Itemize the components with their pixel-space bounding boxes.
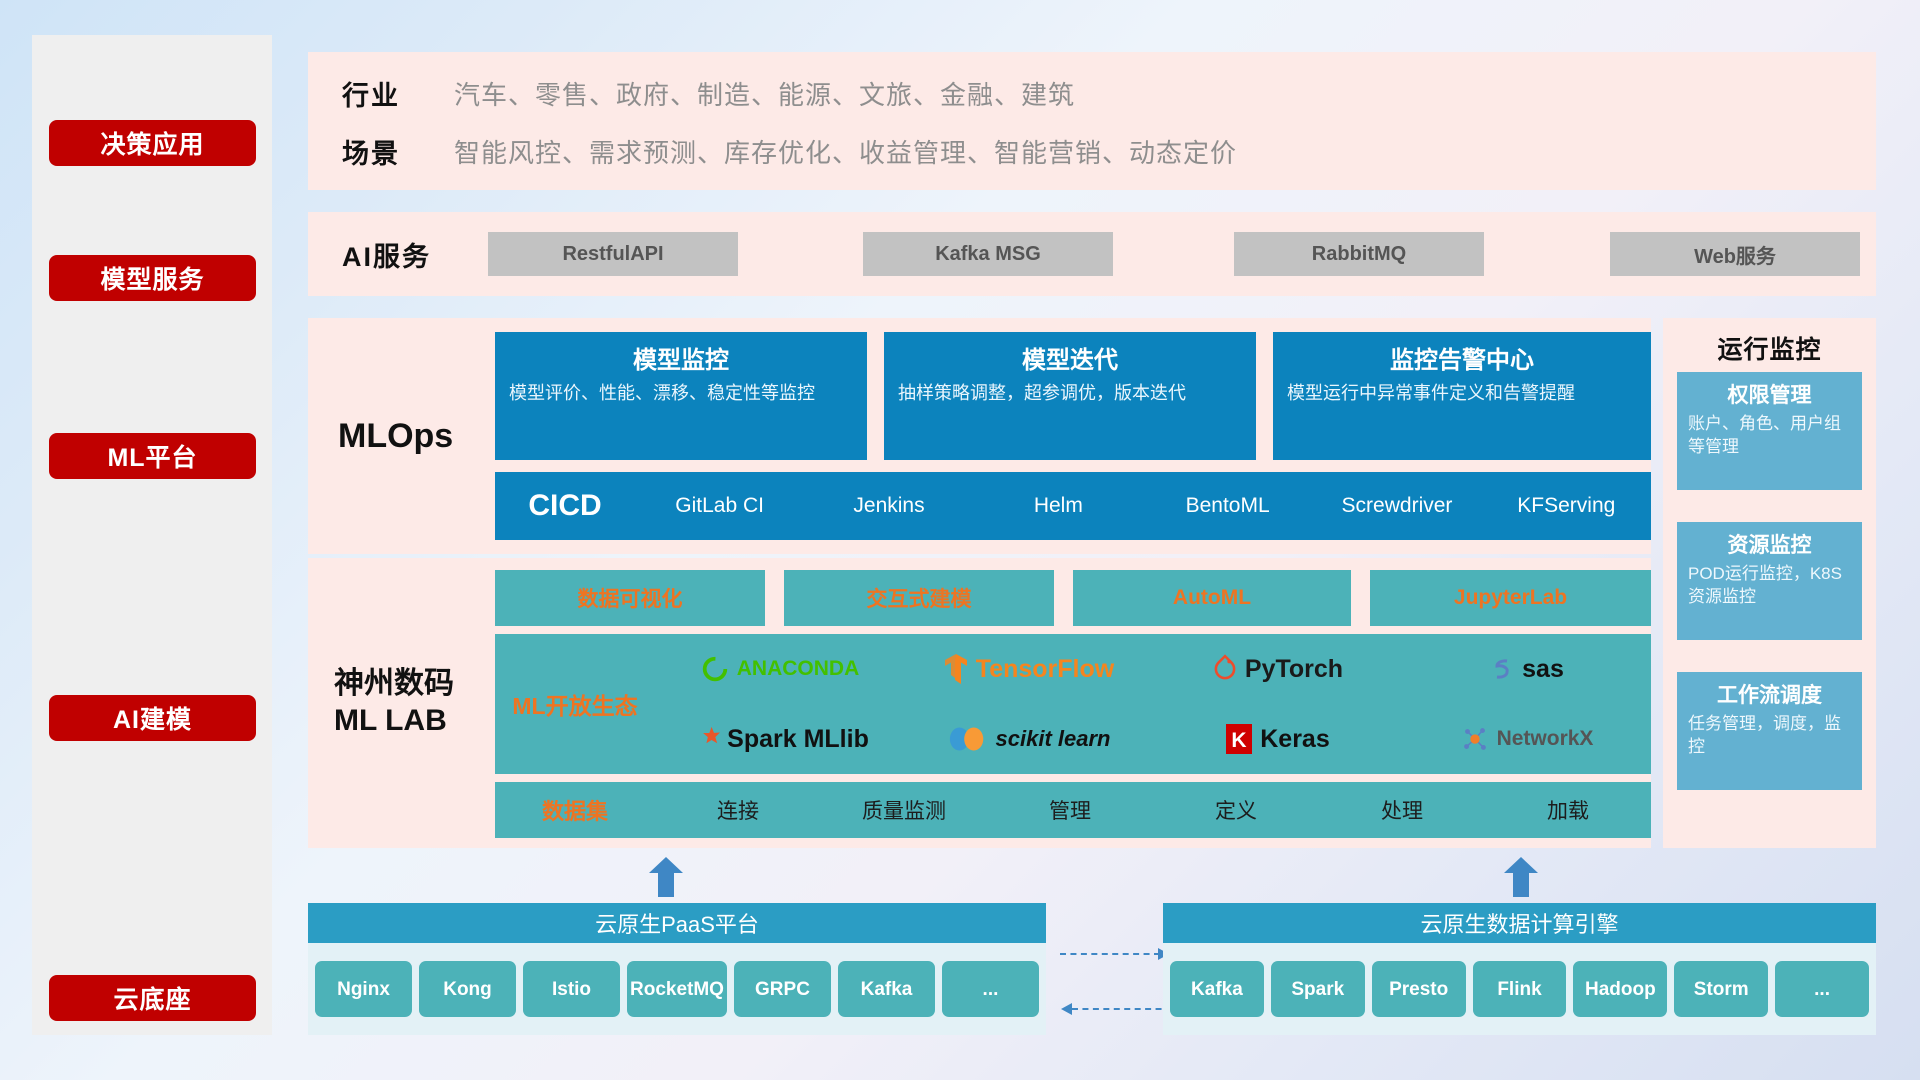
rail-item-ml-platform[interactable]: ML平台 (49, 433, 256, 479)
engine-chip-flink[interactable]: Flink (1473, 961, 1567, 1017)
keras-logo: K Keras (1225, 723, 1330, 755)
ai-chip-rabbitmq[interactable]: RabbitMQ (1234, 232, 1484, 276)
dataset-bar: 数据集 连接 质量监测 管理 定义 处理 加载 (495, 782, 1651, 838)
cicd-title: CICD (495, 489, 635, 523)
cicd-item-gitlab-ci[interactable]: GitLab CI (635, 493, 804, 519)
cicd-item-kfserving[interactable]: KFServing (1482, 493, 1651, 519)
card-title: 模型监控 (509, 340, 853, 375)
paas-chip-row: Nginx Kong Istio RocketMQ GRPC Kafka ... (308, 943, 1046, 1035)
mlops-card-model-iteration[interactable]: 模型迭代 抽样策略调整，超参调优，版本迭代 (884, 332, 1256, 460)
monitor-card-resource[interactable]: 资源监控 POD运行监控，K8S资源监控 (1677, 522, 1862, 640)
cicd-item-helm[interactable]: Helm (974, 493, 1143, 519)
engine-chip-hadoop[interactable]: Hadoop (1573, 961, 1667, 1017)
anaconda-label: ANACONDA (737, 657, 860, 681)
ml-lab-band: 神州数码 ML LAB 数据可视化 交互式建模 AutoML JupyterLa… (308, 558, 1651, 848)
paas-chip-kong[interactable]: Kong (419, 961, 516, 1017)
dash-arrow-left (1061, 1003, 1072, 1015)
pytorch-logo: PyTorch (1212, 654, 1343, 684)
monitor-card-workflow[interactable]: 工作流调度 任务管理，调度，监控 (1677, 672, 1862, 790)
engine-chip-more[interactable]: ... (1775, 961, 1869, 1017)
arrow-up-paas (649, 857, 683, 897)
paas-chip-nginx[interactable]: Nginx (315, 961, 412, 1017)
rail-item-cloud-base[interactable]: 云底座 (49, 975, 256, 1021)
scenario-label: 场景 (342, 132, 454, 171)
sas-icon (1489, 655, 1515, 683)
keras-label: Keras (1260, 725, 1330, 754)
tensorflow-logo: TensorFlow (943, 653, 1114, 685)
rail-item-ai-modeling[interactable]: AI建模 (49, 695, 256, 741)
dataset-item-manage[interactable]: 管理 (987, 795, 1153, 825)
anaconda-logo: ANACONDA (700, 654, 860, 684)
cicd-item-screwdriver[interactable]: Screwdriver (1312, 493, 1481, 519)
card-desc: POD运行监控，K8S资源监控 (1688, 563, 1851, 609)
industry-label: 行业 (342, 74, 454, 113)
tensorflow-icon (943, 653, 969, 685)
card-title: 监控告警中心 (1287, 340, 1637, 375)
ai-service-band: AI服务 RestfulAPI Kafka MSG RabbitMQ Web服务 (308, 212, 1876, 296)
scikit-learn-label: scikit learn (996, 726, 1111, 752)
sas-logo: sas (1489, 655, 1564, 684)
ml-ecosystem-label: ML开放生态 (495, 687, 655, 721)
dash-line-left (1072, 1008, 1172, 1010)
ml-lab-label-line1: 神州数码 (334, 666, 454, 703)
scenario-row: 场景 智能风控、需求预测、库存优化、收益管理、智能营销、动态定价 (342, 132, 1237, 171)
cicd-bar: CICD GitLab CI Jenkins Helm BentoML Scre… (495, 472, 1651, 540)
ml-ecosystem-logo-grid: ANACONDA TensorFlow PyTorch (655, 634, 1651, 774)
card-desc: 账户、角色、用户组等管理 (1688, 413, 1851, 459)
card-desc: 模型评价、性能、漂移、稳定性等监控 (509, 381, 853, 405)
engine-chip-spark[interactable]: Spark (1271, 961, 1365, 1017)
mlops-band: MLOps 模型监控 模型评价、性能、漂移、稳定性等监控 模型迭代 抽样策略调整… (308, 318, 1651, 554)
paas-chip-istio[interactable]: Istio (523, 961, 620, 1017)
mlops-card-model-monitoring[interactable]: 模型监控 模型评价、性能、漂移、稳定性等监控 (495, 332, 867, 460)
paas-chip-more[interactable]: ... (942, 961, 1039, 1017)
card-title: 工作流调度 (1688, 679, 1851, 709)
data-engine-group: 云原生数据计算引擎 Kafka Spark Presto Flink Hadoo… (1163, 903, 1876, 1035)
dataset-title: 数据集 (495, 794, 655, 826)
networkx-icon (1460, 724, 1490, 754)
industry-row: 行业 汽车、零售、政府、制造、能源、文旅、金融、建筑 (342, 74, 1075, 113)
paas-platform-group: 云原生PaaS平台 Nginx Kong Istio RocketMQ GRPC… (308, 903, 1046, 1035)
spark-star-icon (690, 724, 720, 754)
tensorflow-label: TensorFlow (976, 655, 1114, 684)
cicd-item-bentoml[interactable]: BentoML (1143, 493, 1312, 519)
card-title: 模型迭代 (898, 340, 1242, 375)
data-engine-chip-row: Kafka Spark Presto Flink Hadoop Storm ..… (1163, 943, 1876, 1035)
scikit-learn-icon (947, 724, 989, 754)
engine-chip-storm[interactable]: Storm (1674, 961, 1768, 1017)
card-desc: 任务管理，调度，监控 (1688, 713, 1851, 759)
mlops-label: MLOps (338, 318, 453, 554)
dataset-item-process[interactable]: 处理 (1319, 795, 1485, 825)
paas-chip-kafka[interactable]: Kafka (838, 961, 935, 1017)
cicd-item-jenkins[interactable]: Jenkins (804, 493, 973, 519)
runtime-monitor-title: 运行监控 (1663, 318, 1876, 366)
pytorch-icon (1212, 654, 1238, 684)
ml-lab-label: 神州数码 ML LAB (334, 558, 494, 848)
keras-icon: K (1225, 723, 1253, 755)
networkx-logo: NetworkX (1460, 724, 1594, 754)
anaconda-icon (700, 654, 730, 684)
dataset-item-quality[interactable]: 质量监测 (821, 795, 987, 825)
engine-chip-kafka[interactable]: Kafka (1170, 961, 1264, 1017)
paas-chip-grpc[interactable]: GRPC (734, 961, 831, 1017)
spark-mllib-logo: Spark MLlib (690, 724, 869, 754)
svg-text:K: K (1232, 729, 1247, 752)
card-title: 资源监控 (1688, 529, 1851, 559)
ml-lab-label-line2: ML LAB (334, 703, 447, 740)
pytorch-label: PyTorch (1245, 655, 1343, 684)
lab-chip-data-visualization[interactable]: 数据可视化 (495, 570, 765, 626)
monitor-card-permission[interactable]: 权限管理 账户、角色、用户组等管理 (1677, 372, 1862, 490)
lab-chip-automl[interactable]: AutoML (1073, 570, 1351, 626)
ai-chip-restfulapi[interactable]: RestfulAPI (488, 232, 738, 276)
card-desc: 抽样策略调整，超参调优，版本迭代 (898, 381, 1242, 405)
runtime-monitor-band: 运行监控 权限管理 账户、角色、用户组等管理 资源监控 POD运行监控，K8S资… (1663, 318, 1876, 848)
dataset-item-connect[interactable]: 连接 (655, 795, 821, 825)
dataset-item-load[interactable]: 加载 (1485, 795, 1651, 825)
scenario-value: 智能风控、需求预测、库存优化、收益管理、智能营销、动态定价 (454, 133, 1237, 170)
lab-chip-jupyterlab[interactable]: JupyterLab (1370, 570, 1651, 626)
card-desc: 模型运行中异常事件定义和告警提醒 (1287, 381, 1637, 405)
dash-line-right (1060, 953, 1160, 955)
ml-ecosystem-box: ML开放生态 ANACONDA TensorFlow (495, 634, 1651, 774)
dataset-item-define[interactable]: 定义 (1153, 795, 1319, 825)
paas-platform-title: 云原生PaaS平台 (308, 903, 1046, 943)
data-engine-title: 云原生数据计算引擎 (1163, 903, 1876, 943)
industry-value: 汽车、零售、政府、制造、能源、文旅、金融、建筑 (454, 75, 1075, 112)
scikit-learn-logo: scikit learn (947, 724, 1111, 754)
left-rail: 决策应用 模型服务 ML平台 AI建模 云底座 (32, 35, 272, 1035)
rail-item-decision-apps[interactable]: 决策应用 (49, 120, 256, 166)
arrow-up-data-engine (1504, 857, 1538, 897)
mlops-card-alert-center[interactable]: 监控告警中心 模型运行中异常事件定义和告警提醒 (1273, 332, 1651, 460)
ai-chip-web-service[interactable]: Web服务 (1610, 232, 1860, 276)
card-title: 权限管理 (1688, 379, 1851, 409)
rail-item-model-service[interactable]: 模型服务 (49, 255, 256, 301)
ai-chip-kafka-msg[interactable]: Kafka MSG (863, 232, 1113, 276)
spark-mllib-label: Spark MLlib (727, 725, 869, 754)
engine-chip-presto[interactable]: Presto (1372, 961, 1466, 1017)
sas-label: sas (1522, 655, 1564, 684)
decision-apps-band: 行业 汽车、零售、政府、制造、能源、文旅、金融、建筑 场景 智能风控、需求预测、… (308, 52, 1876, 190)
lab-chip-interactive-modeling[interactable]: 交互式建模 (784, 570, 1054, 626)
networkx-label: NetworkX (1497, 727, 1594, 751)
paas-chip-rocketmq[interactable]: RocketMQ (627, 961, 727, 1017)
ai-service-label: AI服务 (342, 212, 431, 296)
